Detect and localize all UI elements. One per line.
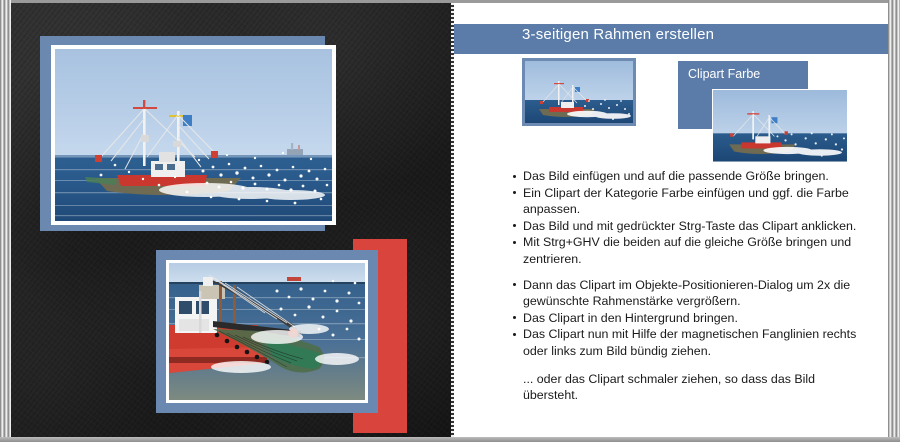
photo-one-white-mat[interactable]	[51, 45, 336, 225]
list-item: Das Clipart nun mit Hilfe der magnetisch…	[512, 326, 872, 359]
list-item: Ein Clipart der Kategorie Farbe einfügen…	[512, 185, 872, 218]
bullet-list-two: Dann das Clipart im Objekte-Positioniere…	[512, 277, 872, 360]
left-scroll-rail[interactable]	[0, 0, 11, 442]
bullet-list-one: Das Bild einfügen und auf die passende G…	[512, 168, 872, 268]
closing-note: ... oder das Clipart schmaler ziehen, so…	[512, 371, 872, 404]
right-scroll-rail[interactable]	[888, 0, 900, 442]
list-spacer	[512, 268, 872, 277]
list-item: Mit Strg+GHV die beiden auf die gleiche …	[512, 234, 872, 267]
thumb-clipart-overlay[interactable]	[712, 89, 848, 163]
list-item: Dann das Clipart im Objekte-Positioniere…	[512, 277, 872, 310]
photo-collage-slide[interactable]	[11, 3, 453, 437]
instruction-body: Das Bild einfügen und auf die passende G…	[512, 168, 872, 404]
photo-trawler-net	[169, 263, 365, 400]
window-bottom-edge	[0, 437, 900, 442]
slide-viewer: 3-seitigen Rahmen erstellen	[0, 0, 900, 442]
thumb-framed-photo[interactable]	[525, 61, 633, 123]
photo-two-white-mat[interactable]	[166, 260, 368, 403]
page-title: 3-seitigen Rahmen erstellen	[522, 26, 714, 43]
list-item: Das Bild einfügen und auf die passende G…	[512, 168, 872, 185]
photo-trawler-gulls	[55, 49, 332, 221]
instructions-slide[interactable]: 3-seitigen Rahmen erstellen	[454, 3, 888, 437]
list-item: Das Clipart in den Hintergrund bringen.	[512, 310, 872, 327]
list-item: Das Bild und mit gedrückter Strg-Taste d…	[512, 218, 872, 235]
clipart-label: Clipart Farbe	[688, 67, 760, 81]
